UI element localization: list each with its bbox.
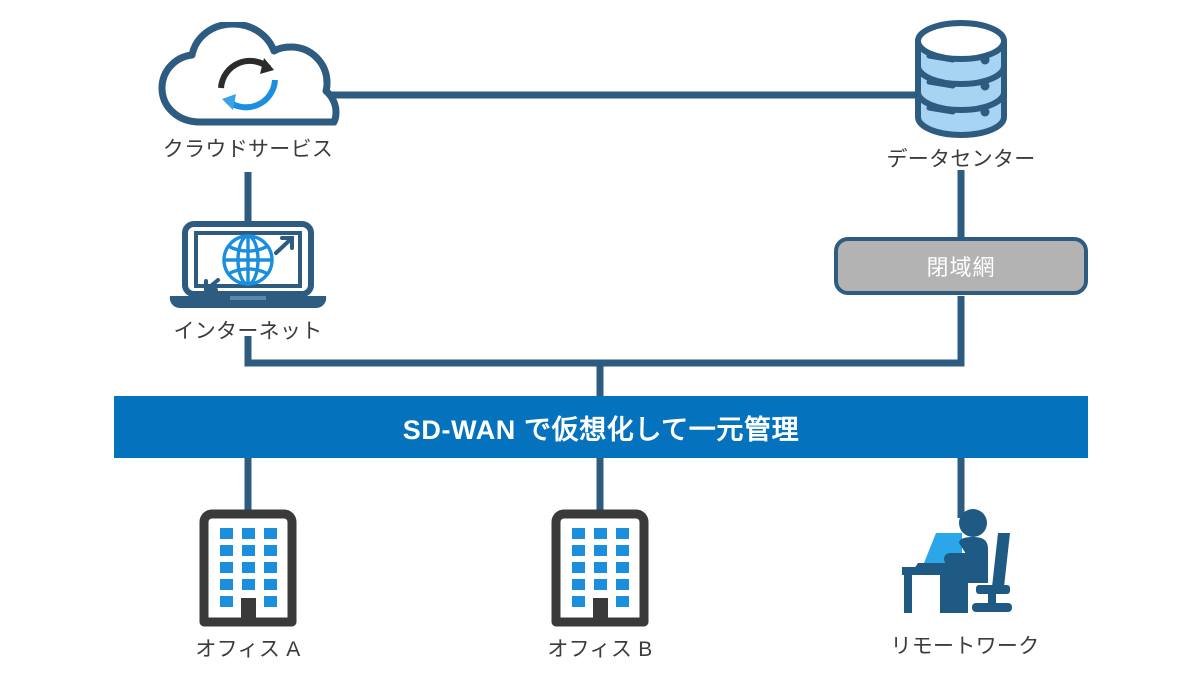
sdwan-bar[interactable]: SD-WAN で仮想化して一元管理: [114, 396, 1088, 458]
node-office-b[interactable]: オフィス B: [520, 500, 680, 661]
node-internet-label: インターネット: [158, 320, 338, 343]
node-remote-work-label: リモートワーク: [880, 635, 1050, 658]
node-closed-network[interactable]: 閉域網: [834, 237, 1088, 295]
laptop-globe-icon: [158, 218, 338, 318]
node-office-a-label: オフィス A: [168, 638, 328, 661]
office-building-icon: [520, 500, 680, 628]
node-datacenter-label: データセンター: [861, 148, 1061, 171]
node-datacenter[interactable]: データセンター: [861, 16, 1061, 171]
office-building-icon: [168, 500, 328, 628]
node-remote-work[interactable]: リモートワーク: [880, 505, 1050, 658]
node-office-a[interactable]: オフィス A: [168, 500, 328, 661]
node-office-b-label: オフィス B: [520, 638, 680, 661]
node-layer: クラウドサービス: [0, 0, 1200, 700]
database-stack-icon: [861, 16, 1061, 142]
sdwan-bar-label: SD-WAN で仮想化して一元管理: [403, 408, 799, 447]
node-cloud-service[interactable]: クラウドサービス: [148, 22, 348, 161]
cloud-sync-icon: [148, 22, 348, 134]
node-cloud-service-label: クラウドサービス: [148, 138, 348, 161]
network-diagram: クラウドサービス: [0, 0, 1200, 700]
node-internet[interactable]: インターネット: [158, 218, 338, 343]
person-at-desk-icon: [880, 505, 1050, 623]
node-closed-network-label: 閉域網: [926, 250, 995, 282]
